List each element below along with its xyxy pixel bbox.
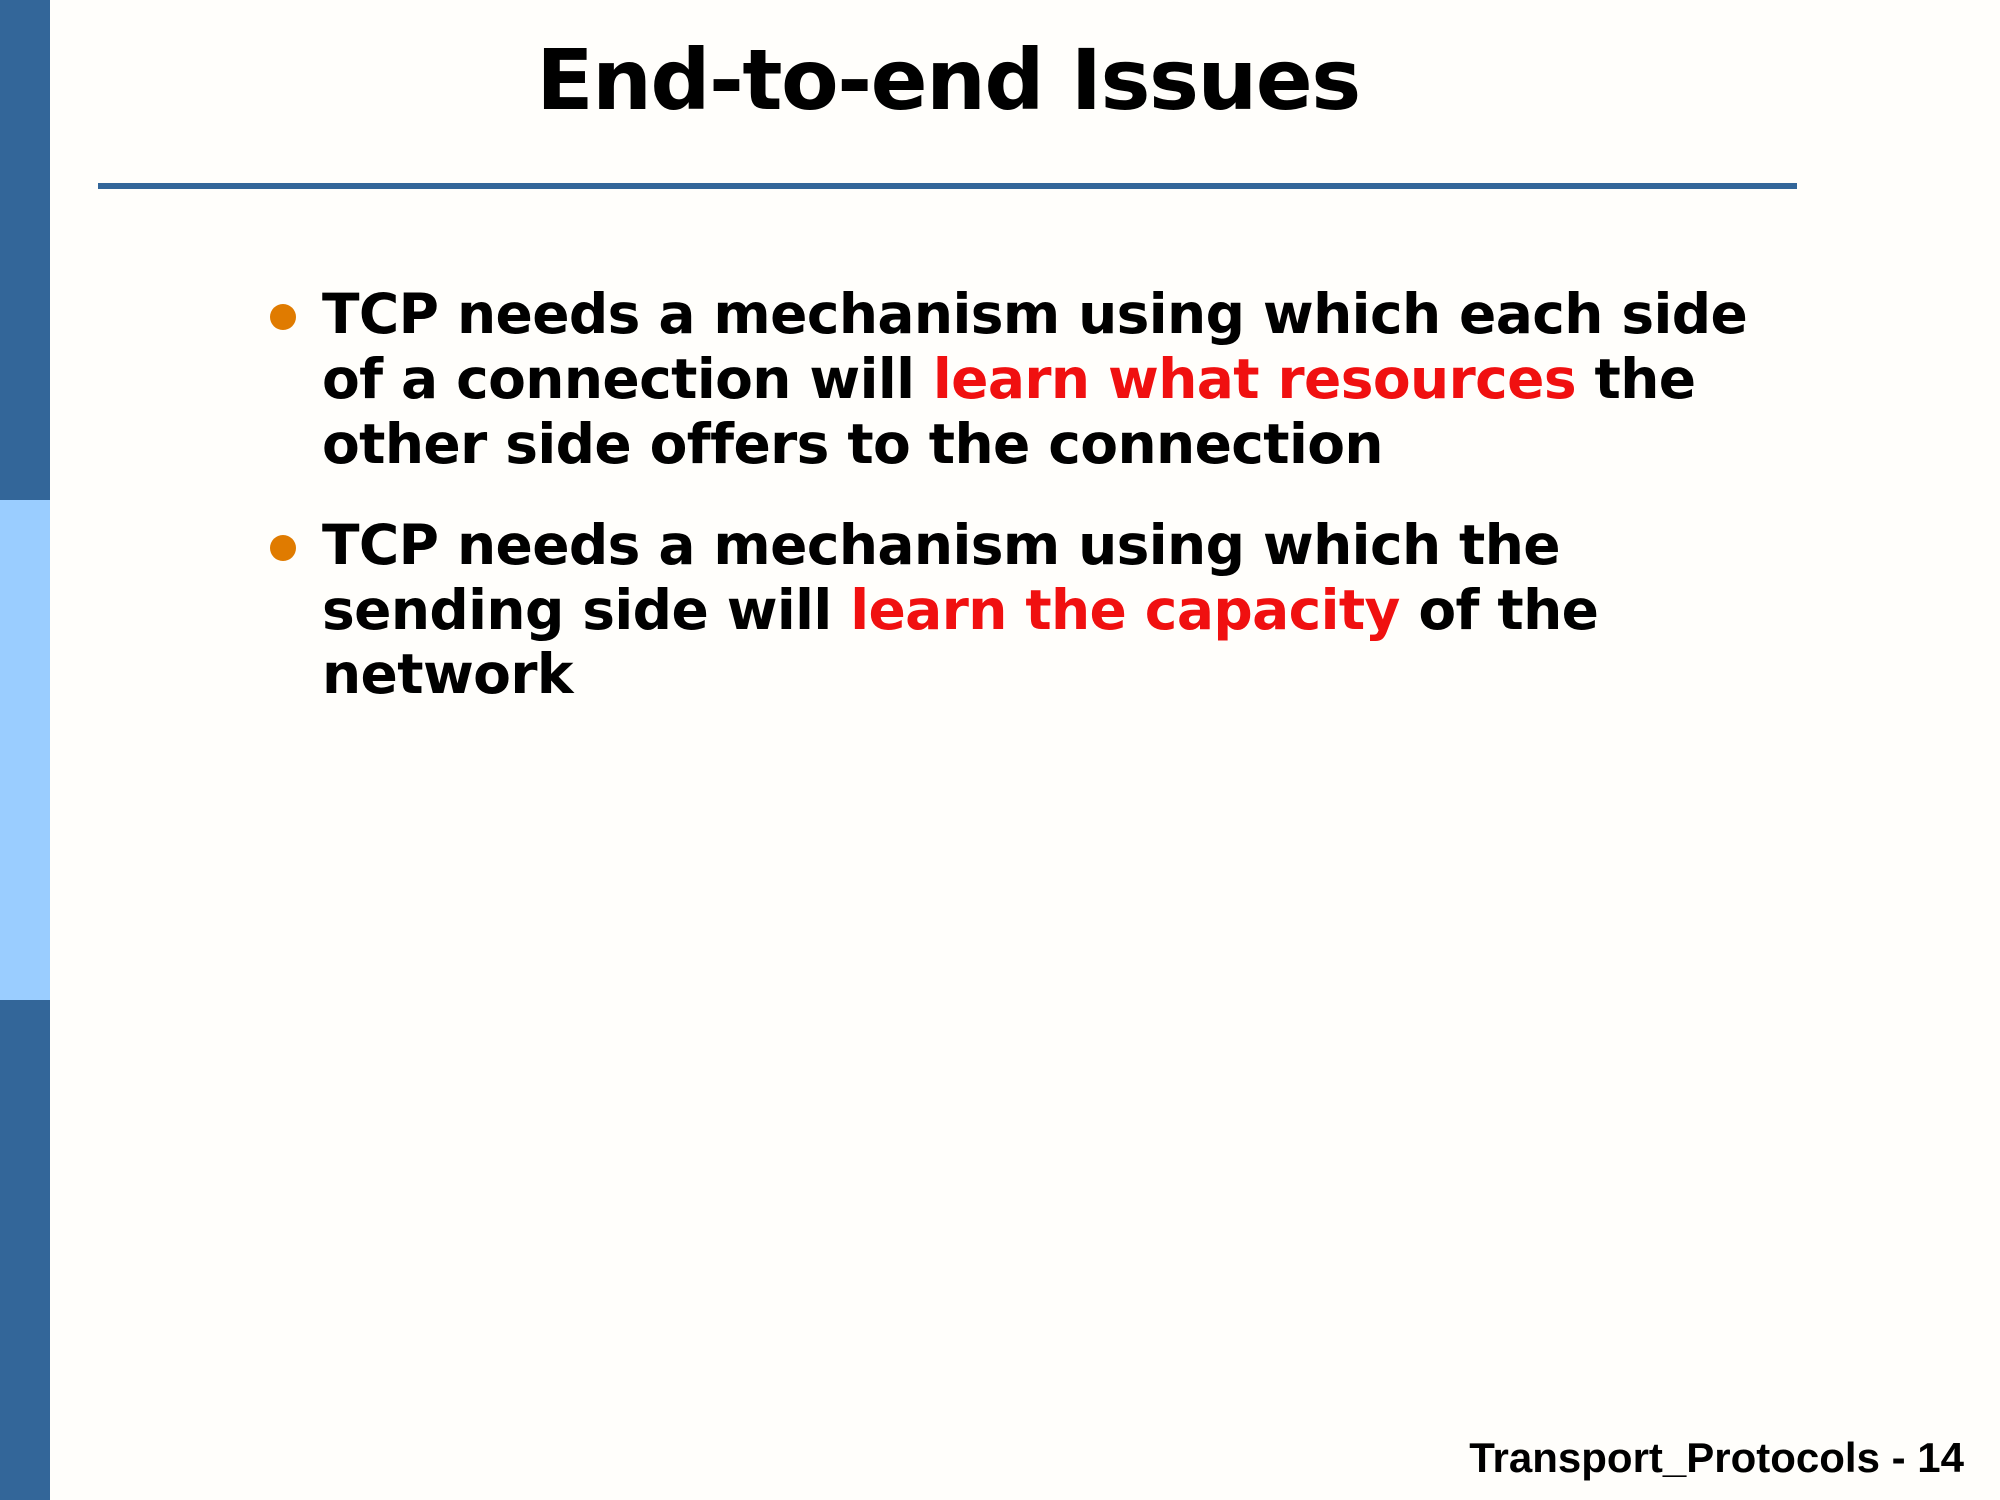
bullet-dot-icon xyxy=(270,535,296,561)
title-divider-rule xyxy=(98,183,1797,189)
bullet-1-segment-1-highlight: learn what resources xyxy=(933,347,1576,411)
bullet-list: TCP needs a mechanism using which each s… xyxy=(270,282,1830,743)
list-item: TCP needs a mechanism using which each s… xyxy=(270,282,1830,477)
list-item: TCP needs a mechanism using which the se… xyxy=(270,513,1830,708)
left-accent-rail xyxy=(0,0,50,1500)
rail-segment-middle xyxy=(0,500,50,1000)
slide-title: End-to-end Issues xyxy=(98,38,1798,122)
bullet-dot-icon xyxy=(270,304,296,330)
rail-segment-top xyxy=(0,0,50,500)
bullet-2-segment-1-highlight: learn the capacity xyxy=(850,578,1400,642)
bullet-item-text-2: TCP needs a mechanism using which the se… xyxy=(322,513,1792,708)
slide-canvas: End-to-end Issues TCP needs a mechanism … xyxy=(0,0,2000,1500)
slide-footer: Transport_Protocols - 14 xyxy=(1469,1434,1964,1482)
bullet-item-text-1: TCP needs a mechanism using which each s… xyxy=(322,282,1792,477)
rail-segment-bottom xyxy=(0,1000,50,1500)
